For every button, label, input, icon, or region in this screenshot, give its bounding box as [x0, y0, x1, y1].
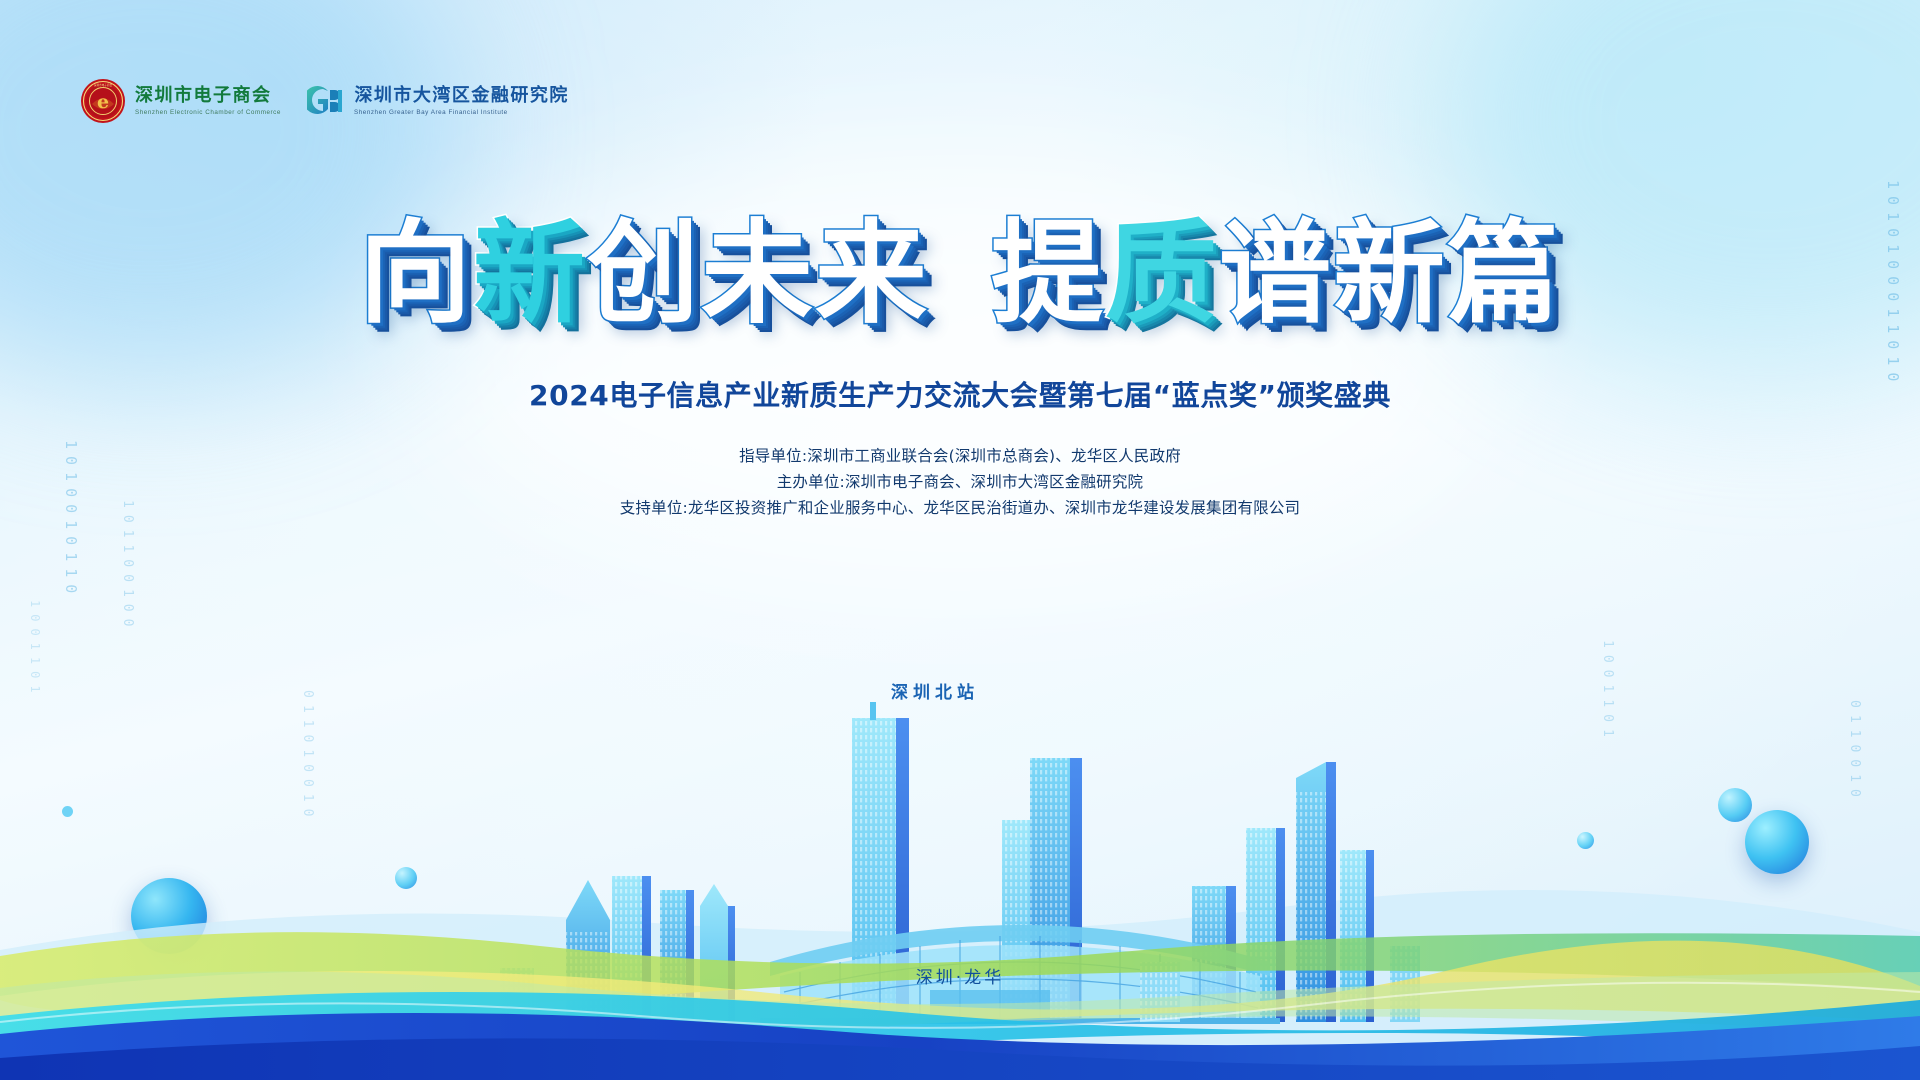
logo-bar: e 深圳市电子商会 深圳市电子商会 Shenzhen Electronic Ch… [80, 78, 569, 124]
shenzhen-skyline-illustration [0, 700, 1920, 1080]
poster-canvas: 1010100011010 0110010 1001101 1010010110… [0, 0, 1920, 1080]
organizer-line-host: 主办单位:深圳市电子商会、深圳市大湾区金融研究院 [0, 469, 1920, 495]
title-char-3: 未 [701, 218, 815, 330]
title-char-6: 质 [1105, 218, 1219, 330]
organizer-block: 指导单位:深圳市工商业联合会(深圳市总商会)、龙华区人民政府 主办单位:深圳市电… [0, 443, 1920, 521]
red-seal-emblem-icon: e 深圳市电子商会 [80, 78, 126, 124]
title-char-8: 新 [1333, 218, 1447, 330]
organizer-line-support: 支持单位:龙华区投资推广和企业服务中心、龙华区民治街道办、深圳市龙华建设发展集团… [0, 495, 1920, 521]
venue-label: 深圳·龙华 [0, 963, 1920, 988]
binary-decoration-left-4: 1001101 [28, 600, 42, 700]
event-subtitle: 2024电子信息产业新质生产力交流大会暨第七届“蓝点奖”颁奖盛典 [0, 374, 1920, 414]
logo-text-institute: 深圳市大湾区金融研究院 Shenzhen Greater Bay Area Fi… [354, 86, 569, 116]
svg-text:深圳市电子商会: 深圳市电子商会 [94, 83, 113, 87]
logo-shenzhen-electronic-chamber-of-commerce: e 深圳市电子商会 深圳市电子商会 Shenzhen Electronic Ch… [80, 78, 285, 124]
gbi-monogram-icon [307, 85, 345, 117]
organizer-line-guidance: 指导单位:深圳市工商业联合会(深圳市总商会)、龙华区人民政府 [0, 443, 1920, 469]
station-label: 深圳北站 [891, 678, 979, 703]
svg-text:e: e [97, 91, 109, 113]
title-char-7: 谱 [1219, 218, 1333, 330]
logo-en-chamber: Shenzhen Electronic Chamber of Commerce [135, 109, 281, 116]
title-char-4: 来 [815, 218, 929, 330]
title-char-5: 提 [991, 218, 1105, 330]
title-char-1: 新 [473, 218, 587, 330]
title-char-2: 创 [587, 218, 701, 330]
logo-shenzhen-greater-bay-area-financial-institute: 深圳市大湾区金融研究院 Shenzhen Greater Bay Area Fi… [307, 85, 569, 117]
logo-text-chamber: 深圳市电子商会 Shenzhen Electronic Chamber of C… [135, 86, 285, 116]
title-char-0: 向 [359, 218, 473, 330]
logo-cn-institute: 深圳市大湾区金融研究院 [354, 86, 569, 107]
title-char-9: 篇 [1447, 218, 1561, 330]
page-title: 向新创未来提质谱新篇 [0, 218, 1920, 330]
logo-en-institute: Shenzhen Greater Bay Area Financial Inst… [354, 109, 562, 116]
logo-cn-chamber: 深圳市电子商会 [135, 86, 285, 107]
